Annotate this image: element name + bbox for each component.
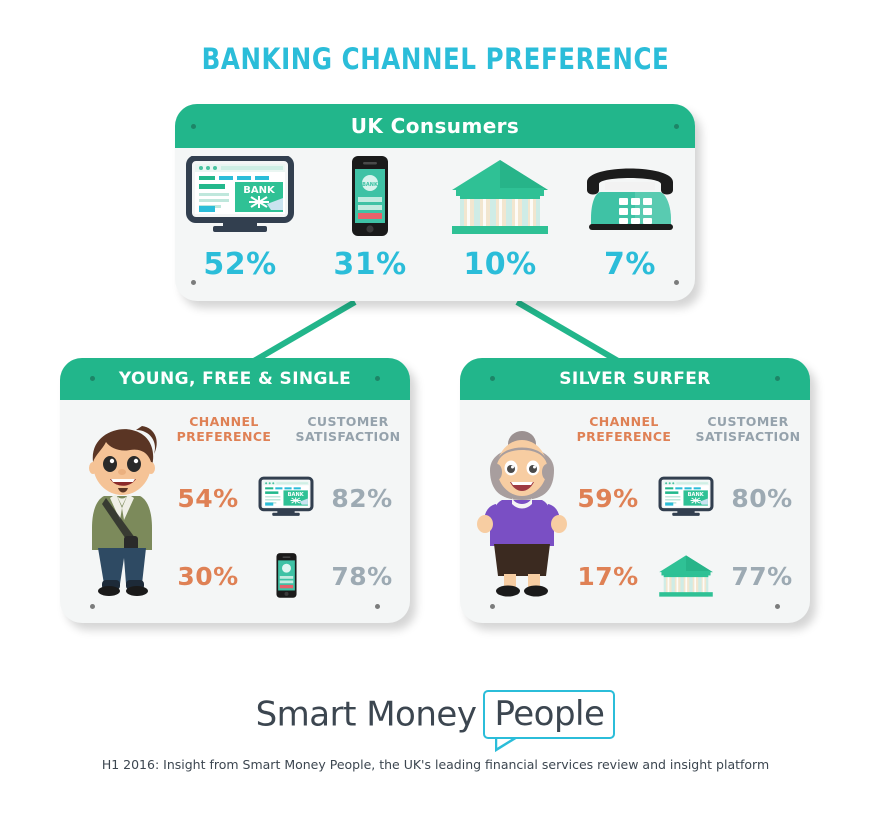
bank-branch-building-icon — [448, 156, 552, 238]
channel-item-branch[interactable]: 10% — [435, 148, 565, 301]
silver-metric-row-online: 59% — [568, 462, 804, 534]
source-caption: H1 2016: Insight from Smart Money People… — [0, 757, 871, 772]
young-free-single-body: CHANNEL PREFERENCE CUSTOMER SATISFACTION… — [60, 400, 410, 623]
screw-dot — [90, 376, 95, 381]
bank-branch-building-icon — [654, 540, 718, 612]
uk-consumers-card: UK Consumers — [175, 104, 695, 301]
online-banking-monitor-icon: BANK — [254, 462, 318, 534]
speech-bubble-tail-icon — [495, 736, 521, 754]
silver-surfer-body: CHANNEL PREFERENCE CUSTOMER SATISFACTION… — [460, 400, 810, 623]
channel-item-mobile[interactable]: BANK 31% — [305, 148, 435, 301]
column-header-customer-satisfaction: CUSTOMER SATISFACTION — [292, 414, 404, 444]
infographic-canvas: BANKING CHANNEL PREFERENCE UK Consumers — [0, 0, 871, 820]
mobile-banking-phone-icon — [254, 540, 318, 612]
satisfaction-value: 82% — [318, 462, 406, 534]
silver-surfer-card-title: SILVER SURFER — [559, 369, 711, 389]
uk-consumers-card-header: UK Consumers — [175, 104, 695, 148]
brand-logo[interactable]: Smart Money People — [0, 690, 871, 739]
screw-dot — [191, 124, 196, 129]
young-column-headers: CHANNEL PREFERENCE CUSTOMER SATISFACTION — [168, 414, 404, 462]
channel-percent: 52% — [203, 247, 276, 282]
silver-surfer-card-header: SILVER SURFER — [460, 358, 810, 400]
screw-dot — [674, 124, 679, 129]
svg-text:BANK: BANK — [362, 182, 379, 188]
silver-column-headers: CHANNEL PREFERENCE CUSTOMER SATISFACTION — [568, 414, 804, 462]
young-free-single-card-title: YOUNG, FREE & SINGLE — [119, 369, 351, 389]
preference-value: 54% — [164, 462, 252, 534]
older-woman-avatar — [476, 424, 568, 600]
logo-speech-bubble: People — [483, 690, 615, 739]
satisfaction-value: 77% — [718, 540, 806, 612]
young-metric-row-online: 54% — [168, 462, 404, 534]
svg-text:BANK: BANK — [243, 185, 276, 196]
channel-percent: 10% — [463, 247, 536, 282]
channel-list: BANK 52% — [175, 148, 695, 301]
svg-text:BANK: BANK — [688, 492, 705, 498]
young-free-single-card-header: YOUNG, FREE & SINGLE — [60, 358, 410, 400]
preference-value: 30% — [164, 540, 252, 612]
column-header-customer-satisfaction: CUSTOMER SATISFACTION — [692, 414, 804, 444]
logo-text-people: People — [494, 694, 604, 734]
silver-surfer-card: SILVER SURFER — [460, 358, 810, 623]
mobile-banking-phone-icon: BANK — [344, 156, 396, 238]
channel-item-telephone[interactable]: 7% — [565, 148, 695, 301]
screw-dot — [775, 376, 780, 381]
channel-percent: 31% — [333, 247, 406, 282]
svg-text:BANK: BANK — [288, 492, 305, 498]
silver-metric-row-branch: 17% — [568, 540, 804, 612]
satisfaction-value: 78% — [318, 540, 406, 612]
page-title: BANKING CHANNEL PREFERENCE — [26, 42, 845, 76]
telephone-banking-icon — [575, 156, 685, 238]
channel-item-online[interactable]: BANK 52% — [175, 148, 305, 301]
online-banking-monitor-icon: BANK — [185, 156, 295, 238]
satisfaction-value: 80% — [718, 462, 806, 534]
preference-value: 17% — [564, 540, 652, 612]
screw-dot — [375, 376, 380, 381]
uk-consumers-card-title: UK Consumers — [351, 114, 519, 138]
young-free-single-card: YOUNG, FREE & SINGLE — [60, 358, 410, 623]
young-metric-row-mobile: 30% 78% — [168, 540, 404, 612]
online-banking-monitor-icon: BANK — [654, 462, 718, 534]
young-man-avatar — [76, 424, 168, 600]
channel-percent: 7% — [604, 247, 656, 282]
screw-dot — [490, 376, 495, 381]
column-header-channel-preference: CHANNEL PREFERENCE — [568, 414, 680, 444]
preference-value: 59% — [564, 462, 652, 534]
column-header-channel-preference: CHANNEL PREFERENCE — [168, 414, 280, 444]
logo-text-smart-money: Smart Money — [256, 695, 477, 735]
